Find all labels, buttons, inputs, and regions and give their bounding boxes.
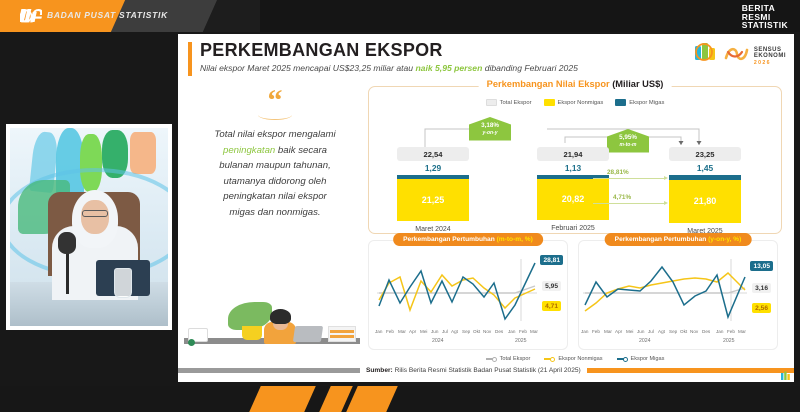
yony-month-1: Jan — [581, 329, 588, 334]
quote-line-2: baik secara — [275, 145, 327, 156]
mtom-month-15: Mar — [530, 329, 538, 334]
bar-segment-nonmigas-1: 21,25 — [397, 179, 469, 221]
bar-chart-area: 3,18% y-on-y 5,95% m-to-m 22,54 1,29 21,… — [369, 115, 781, 233]
illustration-plant-pot — [242, 326, 262, 340]
bar-migas-label-2: 1,13 — [529, 163, 617, 173]
bottom-banner — [0, 386, 800, 412]
quote-line-4: utamanya didorong oleh — [224, 176, 327, 187]
source-text: Sumber: Rilis Berita Resmi Statistik Bad… — [360, 367, 587, 374]
banner-dark-fill — [260, 0, 800, 32]
legend-swatch-migas — [615, 99, 626, 106]
mtom-year-2025: 2025 — [515, 338, 527, 344]
quote-line-1: Total nilai ekspor mengalami — [214, 129, 335, 140]
bps-footer-logo-icon — [780, 370, 792, 382]
subtitle-pre: Nilai ekspor Maret 2025 mencapai US$23,2… — [200, 63, 415, 73]
sensus-logo-text: SENSUS EKONOMI 2026 — [754, 47, 786, 60]
quote-block: “ Total nilai ekspor mengalami peningkat… — [190, 92, 360, 220]
bottom-legend-item-nonmigas: Ekspor Nonmigas — [544, 356, 602, 362]
mtom-month-2: Feb — [386, 329, 394, 334]
subtitle-highlight: naik 5,95 persen — [415, 63, 482, 73]
mtom-month-13: Jan — [508, 329, 515, 334]
bar-column-3: 21,80 — [669, 175, 741, 223]
mtom-year-2024: 2024 — [432, 338, 444, 344]
source-rule-left — [178, 368, 360, 373]
bar-column-2: 20,82 — [537, 175, 609, 220]
yony-month-8: Agt — [658, 329, 665, 334]
sensus-swirl-icon — [724, 42, 750, 64]
backdrop-shape-5 — [130, 132, 156, 174]
yony-month-12: Des — [702, 329, 710, 334]
presenter-face — [81, 200, 109, 234]
bps-logo-icon: ԼԲ — [20, 6, 42, 26]
yony-month-4: Apr — [615, 329, 622, 334]
bar-column-1: 21,25 — [397, 175, 469, 222]
bar-category-2: Februari 2025 — [529, 225, 617, 232]
quote-mark-icon: “ — [190, 92, 360, 110]
yony-end-label-migas: 3,16 — [752, 283, 771, 293]
bottom-legend-dot-nonmigas — [550, 357, 555, 362]
bottom-legend-label-migas: Ekspor Migas — [631, 356, 665, 362]
illustration-cart-wheel — [188, 339, 195, 346]
bps-org-name: BADAN PUSAT STATISTIK — [47, 10, 168, 20]
quote-line-3: bulanan maupun tahunan, — [219, 160, 331, 171]
bottom-legend-label-nonmigas: Ekspor Nonmigas — [558, 356, 602, 362]
yony-title-unit: (y-on-y, %) — [708, 236, 741, 243]
mtom-month-4: Apr — [409, 329, 416, 334]
legend-label-migas: Ekspor Migas — [629, 100, 664, 106]
bar-total-label-3: 23,25 — [669, 147, 741, 161]
mtom-month-10: Okt — [473, 329, 480, 334]
bottom-legend-label-total: Total Ekspor — [500, 356, 531, 362]
yony-month-3: Mar — [604, 329, 612, 334]
chart-title-unit: (Miliar US$) — [612, 79, 663, 89]
badge-yoy-value: 3,18% — [481, 122, 499, 129]
bar-total-label-2: 21,94 — [537, 147, 609, 161]
slide-header: PERKEMBANGAN EKSPOR Nilai ekspor Maret 2… — [178, 34, 794, 80]
presenter-glasses — [82, 210, 108, 217]
bar-category-1: Maret 2024 — [389, 226, 477, 233]
bottom-legend-item-migas: Ekspor Migas — [617, 356, 665, 362]
bar-segment-nonmigas-2: 20,82 — [537, 179, 609, 220]
badge-yoy-unit: y-on-y — [475, 130, 505, 138]
mtom-end-label-total: 28,81 — [540, 255, 563, 265]
yony-line-plot — [579, 253, 779, 325]
berita-resmi-statistik-logo: BERITA RESMI STATISTIK — [742, 4, 788, 30]
yony-month-11: Nov — [690, 329, 698, 334]
legend-item-total: Total Ekspor — [486, 99, 532, 106]
illustration-books — [328, 326, 356, 342]
bottom-chevron-3 — [346, 386, 398, 412]
growth-arrow-nonmigas — [593, 203, 665, 204]
yony-month-15: Mar — [738, 329, 746, 334]
bar-segment-nonmigas-3: 21,80 — [669, 180, 741, 223]
badge-mtom-value: 5,95% — [619, 134, 637, 141]
source-label: Sumber: — [366, 367, 393, 374]
brs-line-3: STATISTIK — [742, 21, 788, 30]
growth-label-nonmigas: 4,71% — [613, 194, 631, 201]
mtom-month-7: Jul — [442, 329, 448, 334]
yony-month-14: Feb — [727, 329, 735, 334]
mtom-month-3: Mar — [398, 329, 406, 334]
yony-chart-title: Perkembangan Pertumbuhan (y-on-y, %) — [605, 233, 752, 246]
illustration-laptop — [293, 326, 323, 342]
yony-month-10: Okt — [680, 329, 687, 334]
quote-text: Total nilai ekspor mengalami peningkatan… — [190, 127, 360, 220]
slide-screenshot: ԼԲ BADAN PUSAT STATISTIK BERITA RESMI ST… — [0, 0, 800, 412]
chart-title-main: Perkembangan Nilai Ekspor — [487, 79, 613, 89]
bar-group-februari-2025: 21,94 1,13 20,82 Februari 2025 — [529, 147, 617, 232]
mtom-series-total — [379, 263, 535, 319]
mtom-month-9: Sep — [462, 329, 470, 334]
chart-legend: Total Ekspor Ekspor Nonmigas Ekspor Miga… — [369, 99, 781, 106]
mtom-month-14: Feb — [519, 329, 527, 334]
mtom-month-12: Des — [495, 329, 503, 334]
mtom-chart-title: Perkembangan Pertumbuhan (m-to-m, %) — [393, 233, 543, 246]
bottom-legend-dot-total — [492, 357, 497, 362]
yony-month-6: Jun — [637, 329, 644, 334]
sensus-ekonomi-logo: SENSUS EKONOMI 2026 — [694, 42, 786, 64]
yony-end-label-total: 13,05 — [750, 261, 773, 271]
badge-mtom-unit: m-to-m — [613, 142, 643, 150]
legend-item-migas: Ekspor Migas — [615, 99, 664, 106]
presentation-slide: PERKEMBANGAN EKSPOR Nilai ekspor Maret 2… — [178, 34, 794, 382]
mtom-month-6: Jun — [431, 329, 438, 334]
source-value: Rilis Berita Resmi Statistik Badan Pusat… — [393, 367, 581, 374]
bottom-chevron-1 — [249, 386, 316, 412]
legend-label-total: Total Ekspor — [500, 100, 532, 106]
growth-chart-mtom: Perkembangan Pertumbuhan (m-to-m, %) 28,… — [368, 240, 568, 350]
top-banner: ԼԲ BADAN PUSAT STATISTIK BERITA RESMI ST… — [0, 0, 800, 32]
yony-month-2: Feb — [592, 329, 600, 334]
bar-total-label-1: 22,54 — [397, 147, 469, 161]
illustration-person-hair — [270, 309, 291, 324]
quote-line-6: migas dan nonmigas. — [229, 207, 320, 218]
export-value-chart-panel: Perkembangan Nilai Ekspor (Miliar US$) T… — [368, 86, 782, 234]
subtitle-post: dibanding Februari 2025 — [482, 63, 578, 73]
sensus-year: 2026 — [754, 60, 771, 67]
mtom-title-unit: (m-to-m, %) — [497, 236, 533, 243]
growth-label-migas: 28,81% — [607, 169, 629, 176]
slide-subtitle: Nilai ekspor Maret 2025 mencapai US$23,2… — [200, 63, 578, 73]
bottom-legend-item-total: Total Ekspor — [486, 356, 531, 362]
yony-month-7: Jul — [648, 329, 654, 334]
mtom-month-5: Mei — [420, 329, 427, 334]
yony-month-5: Mei — [626, 329, 633, 334]
illustration-person-at-desk — [184, 294, 360, 358]
growth-chart-yony: Perkembangan Pertumbuhan (y-on-y, %) 13,… — [578, 240, 778, 350]
presenter-video-feed[interactable] — [6, 124, 172, 330]
source-footer: Sumber: Rilis Berita Resmi Statistik Bad… — [178, 365, 794, 376]
bar-migas-label-1: 1,29 — [389, 163, 477, 173]
mtom-month-8: Agt — [451, 329, 458, 334]
yony-title-text: Perkembangan Pertumbuhan — [615, 236, 708, 243]
growth-arrow-migas — [593, 178, 665, 179]
page-title: PERKEMBANGAN EKSPOR — [200, 40, 443, 61]
bottom-legend: Total Ekspor Ekspor Nonmigas Ekspor Miga… — [368, 356, 782, 362]
yony-month-9: Sep — [669, 329, 677, 334]
mtom-month-11: Nov — [483, 329, 491, 334]
yony-year-2025: 2025 — [723, 338, 735, 344]
bps-cube-icon — [694, 42, 720, 64]
bottom-legend-dot-migas — [623, 357, 628, 362]
quote-line-5: peningkatan nilai ekspor — [223, 191, 326, 202]
quote-highlight: peningkatan — [223, 145, 275, 156]
bar-group-maret-2024: 22,54 1,29 21,25 Maret 2024 — [389, 147, 477, 233]
illustration-book-stripe-1 — [330, 335, 354, 338]
bar-group-maret-2025: 23,25 1,45 21,80 Maret 2025 — [661, 147, 749, 235]
mtom-line-plot — [369, 253, 569, 325]
yony-year-2024: 2024 — [639, 338, 651, 344]
microphone-head — [58, 232, 76, 254]
legend-label-nonmigas: Ekspor Nonmigas — [558, 100, 604, 106]
legend-swatch-total — [486, 99, 497, 106]
legend-swatch-nonmigas — [544, 99, 555, 106]
title-accent-bar — [188, 42, 192, 76]
chart-title: Perkembangan Nilai Ekspor (Miliar US$) — [479, 79, 672, 89]
source-rule-right — [587, 368, 794, 373]
drinking-glass — [114, 268, 132, 298]
yony-month-13: Jan — [716, 329, 723, 334]
mtom-title-text: Perkembangan Pertumbuhan — [403, 236, 496, 243]
legend-item-nonmigas: Ekspor Nonmigas — [544, 99, 604, 106]
mtom-end-label-migas: 5,95 — [542, 281, 561, 291]
mtom-end-label-nonmigas: 4,71 — [542, 301, 561, 311]
bar-migas-label-3: 1,45 — [661, 163, 749, 173]
page-number: 8 — [787, 363, 791, 370]
illustration-book-stripe-2 — [330, 330, 354, 333]
mtom-month-1: Jan — [375, 329, 382, 334]
yony-end-label-nonmigas: 2,56 — [752, 303, 771, 313]
